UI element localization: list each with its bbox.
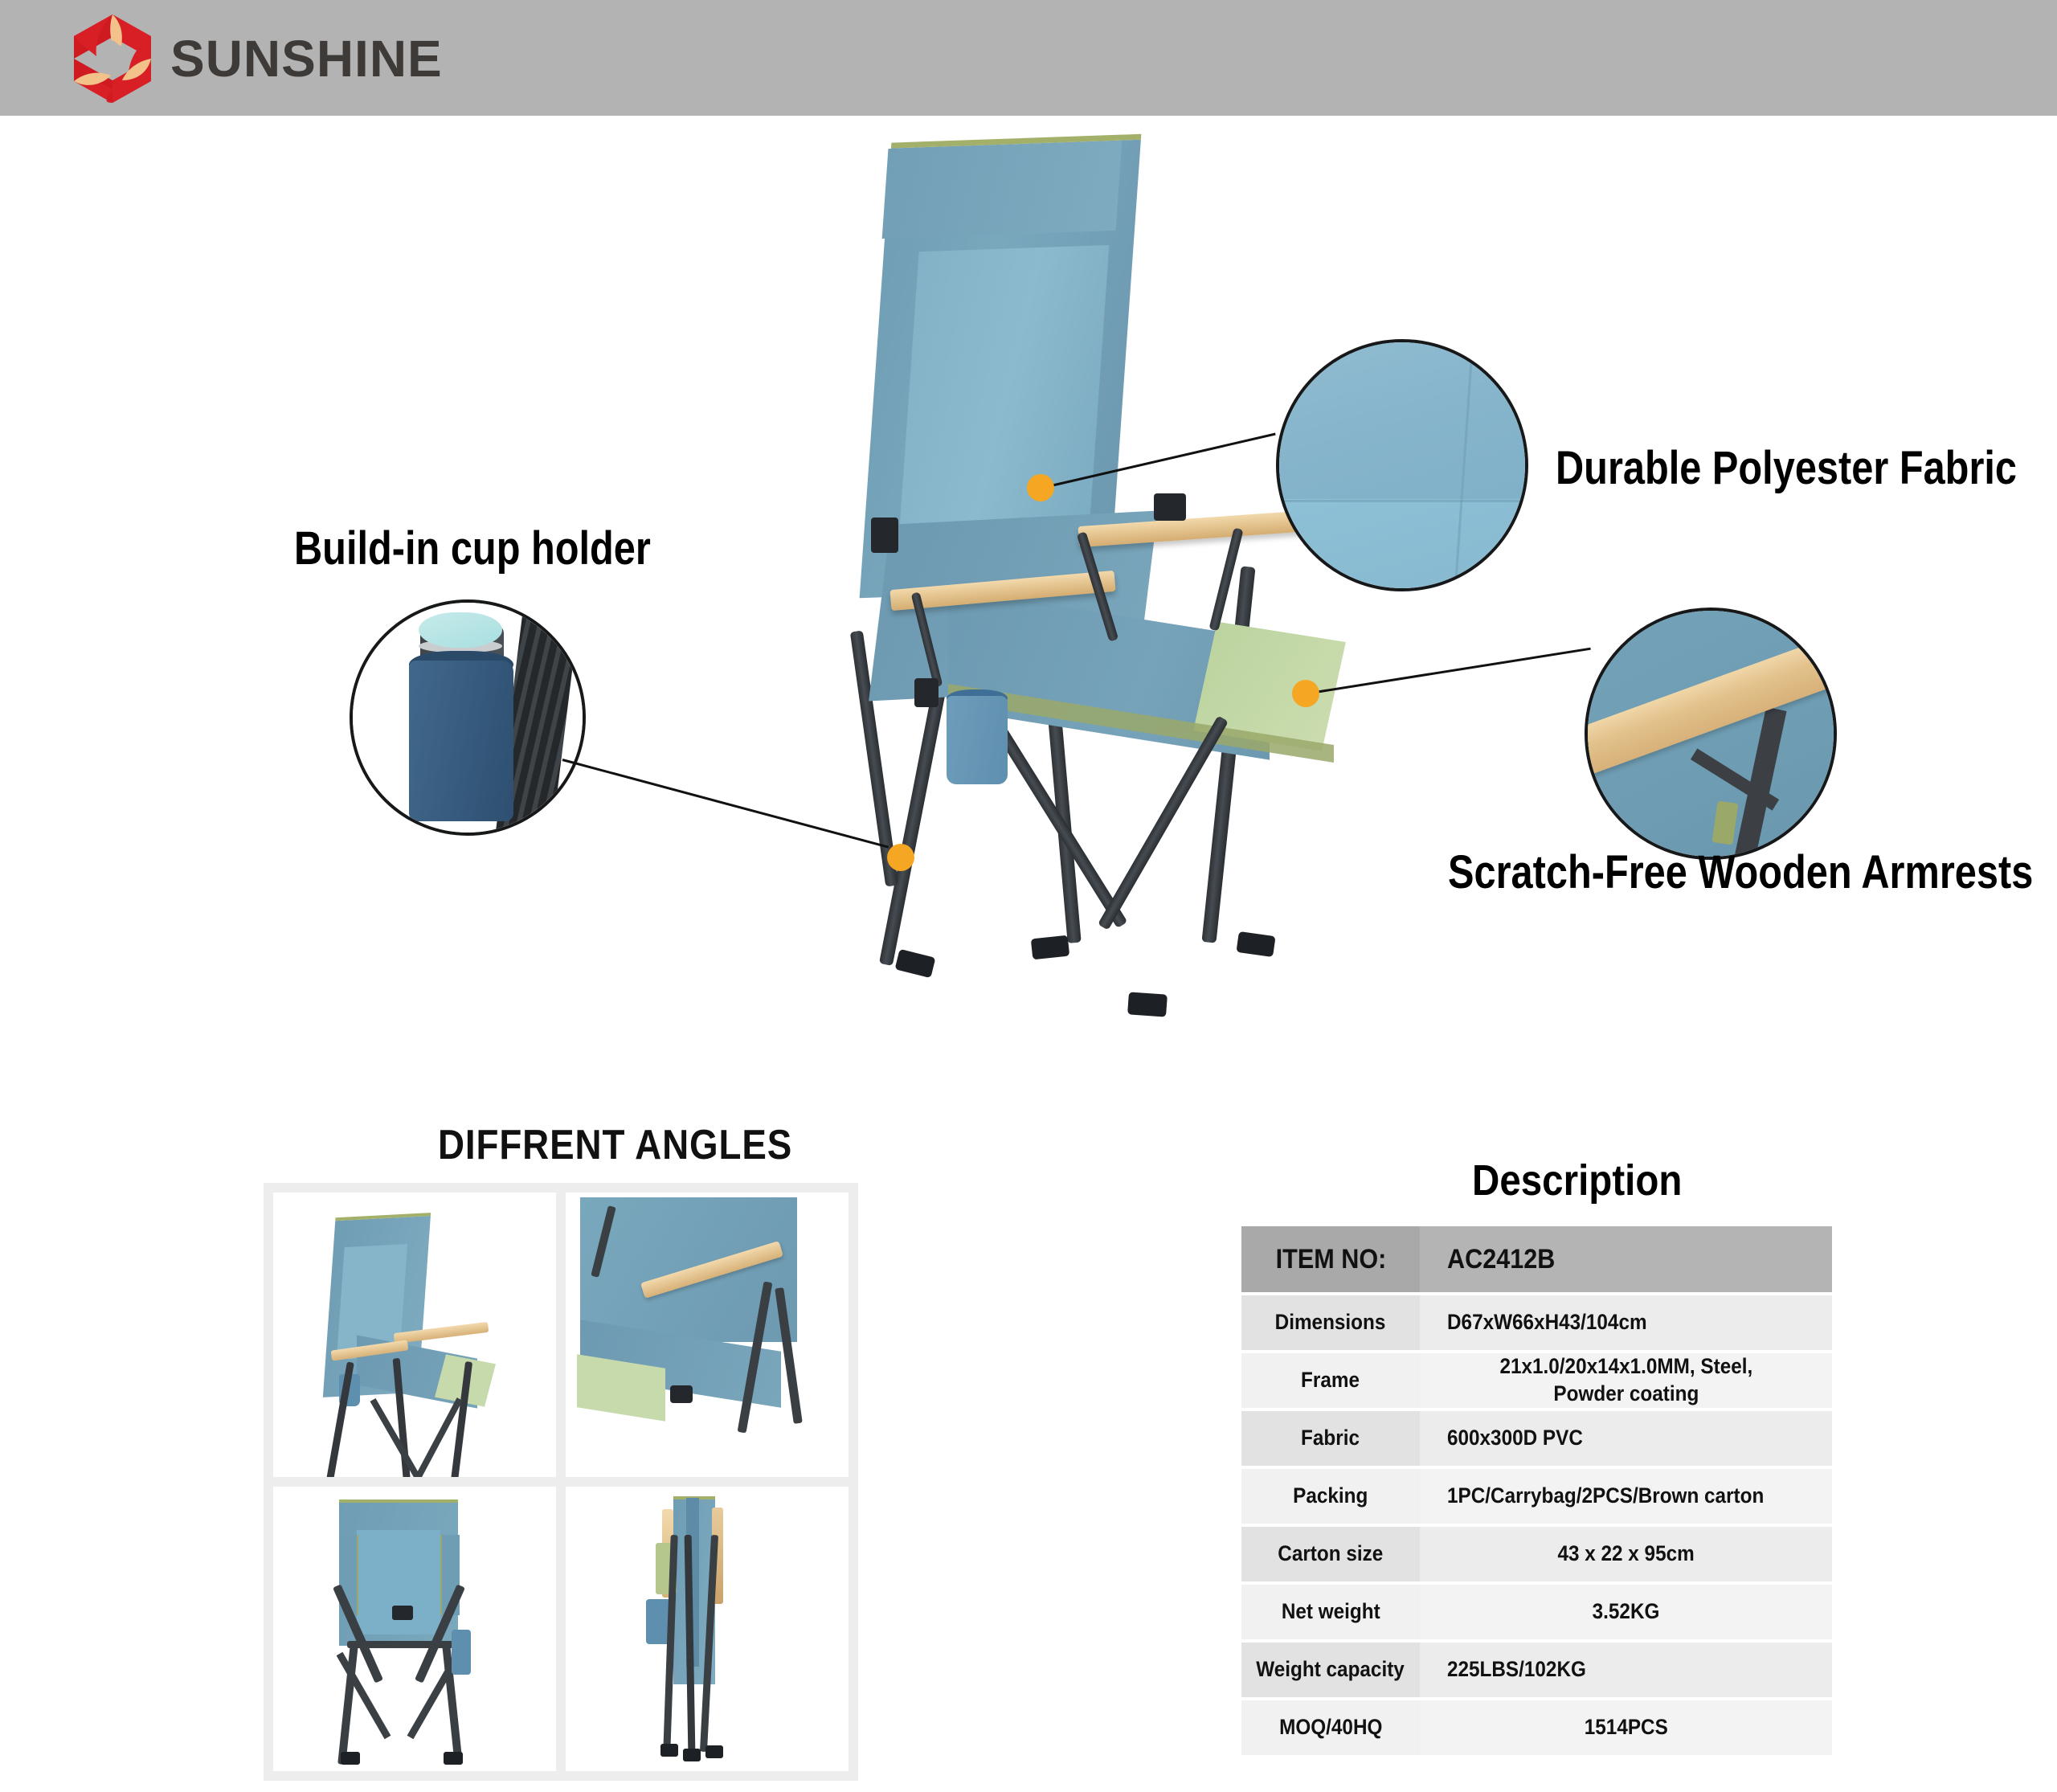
main-product-image: [707, 116, 1382, 1104]
callout-label-cupholder: Build-in cup holder: [294, 522, 651, 575]
detail-circle-cupholder: [350, 599, 586, 836]
angles-section-title: DIFFRENT ANGLES: [438, 1121, 792, 1169]
cup-holder-pouch: [947, 696, 1008, 784]
detail-circle-armrests: [1585, 608, 1837, 860]
recline-hinge: [871, 518, 898, 553]
spec-key-cell: Carton size: [1241, 1527, 1420, 1581]
table-row: MOQ/40HQ1514PCS: [1241, 1700, 1832, 1755]
recline-hinge: [1154, 493, 1186, 521]
callout-label-armrests: Scratch-Free Wooden Armrests: [1448, 845, 2033, 899]
foot-cap: [1127, 992, 1168, 1017]
spec-key-cell: Net weight: [1241, 1585, 1420, 1639]
spec-key-cell: ITEM NO:: [1241, 1226, 1420, 1292]
specification-table: ITEM NO:AC2412BDimensionsD67xW66xH43/104…: [1241, 1223, 1832, 1758]
table-row: Packing1PC/Carrybag/2PCS/Brown carton: [1241, 1469, 1832, 1524]
spec-key-cell: Packing: [1241, 1469, 1420, 1524]
angles-thumbnail-grid: [264, 1183, 858, 1781]
foot-cap: [1236, 931, 1275, 957]
spec-value-cell: 1514PCS: [1420, 1700, 1832, 1755]
table-row: DimensionsD67xW66xH43/104cm: [1241, 1295, 1832, 1350]
frame-hinge: [914, 678, 939, 707]
spec-key-cell: MOQ/40HQ: [1241, 1700, 1420, 1755]
description-section-title: Description: [1472, 1156, 1682, 1205]
spec-key-cell: Frame: [1241, 1353, 1420, 1408]
callout-dot-armrests: [1292, 680, 1319, 707]
spec-value-cell: 600x300D PVC: [1420, 1411, 1832, 1466]
spec-value-cell: 3.52KG: [1420, 1585, 1832, 1639]
foot-cap: [1031, 935, 1069, 960]
callout-label-fabric: Durable Polyester Fabric: [1556, 441, 2017, 495]
table-row: ITEM NO:AC2412B: [1241, 1226, 1832, 1292]
spec-value-cell: 21x1.0/20x14x1.0MM, Steel,Powder coating: [1420, 1353, 1832, 1408]
spec-value-cell: AC2412B: [1420, 1226, 1832, 1292]
table-row: Frame21x1.0/20x14x1.0MM, Steel,Powder co…: [1241, 1353, 1832, 1408]
thumb-folded-view[interactable]: [566, 1487, 849, 1771]
spec-value-cell: 1PC/Carrybag/2PCS/Brown carton: [1420, 1469, 1832, 1524]
thumb-rear-view[interactable]: [273, 1487, 556, 1771]
thumb-armrest-closeup[interactable]: [566, 1193, 849, 1477]
brand-title: SUNSHINE: [170, 23, 443, 95]
detail-circle-fabric: [1276, 339, 1528, 591]
table-row: Weight capacity225LBS/102KG: [1241, 1643, 1832, 1697]
spec-value-cell: 43 x 22 x 95cm: [1420, 1527, 1832, 1581]
spec-value-cell: 225LBS/102KG: [1420, 1643, 1832, 1697]
callout-dot-fabric: [1027, 474, 1054, 501]
table-row: Net weight3.52KG: [1241, 1585, 1832, 1639]
table-row: Fabric600x300D PVC: [1241, 1411, 1832, 1466]
table-row: Carton size43 x 22 x 95cm: [1241, 1527, 1832, 1581]
header-band: SUNSHINE: [0, 0, 2057, 116]
spec-value-cell: D67xW66xH43/104cm: [1420, 1295, 1832, 1350]
spec-key-cell: Fabric: [1241, 1411, 1420, 1466]
foot-cap: [895, 949, 936, 978]
spec-key-cell: Dimensions: [1241, 1295, 1420, 1350]
product-spec-sheet: SUNSHINE: [0, 0, 2057, 1792]
headrest-fabric: [882, 141, 1123, 239]
thumb-side-view[interactable]: [273, 1193, 556, 1477]
callout-dot-cupholder: [887, 844, 914, 871]
hero-product-section: Durable Polyester Fabric Build-in cup ho…: [0, 116, 2057, 1104]
sunshine-hexagon-logo: [67, 11, 157, 106]
spec-key-cell: Weight capacity: [1241, 1643, 1420, 1697]
